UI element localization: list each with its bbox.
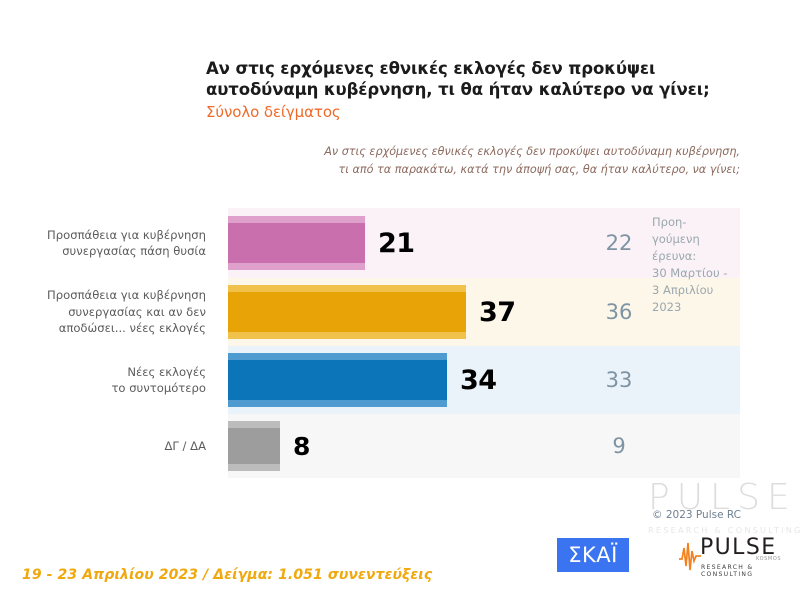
label-0-line-1: Προσπάθεια για κυβέρνηση <box>47 227 206 243</box>
bar-2-cap-top <box>228 353 447 360</box>
bar-0-core <box>228 223 365 263</box>
page-subtitle: Σύνολο δείγματος <box>206 103 726 121</box>
prev-value-2: 33 <box>589 370 649 391</box>
label-1-line-1: Προσπάθεια για κυβέρνηση <box>47 287 206 303</box>
label-2-line-1: Νέες εκλογές <box>111 364 206 380</box>
category-labels: Προσπάθεια για κυβέρνηση συνεργασίας πάσ… <box>14 208 214 478</box>
page-title: Αν στις ερχόμενες εθνικές εκλογές δεν πρ… <box>206 58 726 121</box>
date-sample-text: 19 - 23 Απριλίου 2023 / Δείγμα: 1.051 συ… <box>22 567 432 583</box>
date-bar: 19 - 23 Απριλίου 2023 / Δείγμα: 1.051 συ… <box>0 560 800 596</box>
category-label-0: Προσπάθεια για κυβέρνηση συνεργασίας πάσ… <box>14 208 214 278</box>
prev-value-3: 9 <box>589 436 649 457</box>
label-0-line-2: συνεργασίας πάση θυσία <box>47 243 206 259</box>
chart-row-2: 34 33 <box>228 346 740 414</box>
prev-value-1: 36 <box>589 302 649 323</box>
copyright-text: © 2023 Pulse RC <box>652 509 741 521</box>
bar-3-cap-top <box>228 421 280 428</box>
label-1-line-2: συνεργασίας και αν δεν <box>47 304 206 320</box>
bar-3-core <box>228 428 280 464</box>
bar-2-core <box>228 360 447 400</box>
bar-value-2: 34 <box>460 367 497 394</box>
label-2-line-2: το συντομότερο <box>111 380 206 396</box>
prevnote-line-4: 30 Μαρτίου - <box>652 265 744 282</box>
prevnote-line-2: γούμενη <box>652 231 744 248</box>
question-line-1: Αν στις ερχόμενες εθνικές εκλογές δεν πρ… <box>280 143 740 161</box>
bar-value-0: 21 <box>378 230 415 257</box>
category-label-3: ΔΓ / ΔΑ <box>14 414 214 478</box>
prevnote-line-5: 3 Απριλίου <box>652 282 744 299</box>
bar-1-cap-bottom <box>228 332 466 339</box>
prevnote-line-6: 2023 <box>652 299 744 316</box>
bar-2-cap-bottom <box>228 400 447 407</box>
bar-0 <box>228 216 365 270</box>
bar-chart: 21 22 37 36 34 33 <box>228 208 740 478</box>
bar-1 <box>228 285 466 339</box>
bar-value-1: 37 <box>479 299 516 326</box>
bar-value-3: 8 <box>293 434 310 459</box>
bar-0-cap-top <box>228 216 365 223</box>
watermark-sub: RESEARCH & CONSULTING <box>648 525 800 535</box>
bar-1-cap-top <box>228 285 466 292</box>
bar-2 <box>228 353 447 407</box>
prevnote-line-3: έρευνα: <box>652 248 744 265</box>
prevnote-line-1: Προη- <box>652 214 744 231</box>
label-3-line-1: ΔΓ / ΔΑ <box>164 438 206 454</box>
chart-row-3: 8 9 <box>228 414 740 478</box>
category-label-2: Νέες εκλογές το συντομότερο <box>14 346 214 414</box>
bar-1-core <box>228 292 466 332</box>
question-line-2: τι από τα παρακάτω, κατά την άποψή σας, … <box>280 161 740 179</box>
label-1-line-3: αποδώσει... νέες εκλογές <box>47 320 206 336</box>
bar-3 <box>228 421 280 471</box>
bar-0-cap-bottom <box>228 263 365 270</box>
title-line-1: Αν στις ερχόμενες εθνικές εκλογές δεν πρ… <box>206 58 726 79</box>
title-line-2: αυτοδύναμη κυβέρνηση, τι θα ήταν καλύτερ… <box>206 79 726 100</box>
previous-survey-note: Προη- γούμενη έρευνα: 30 Μαρτίου - 3 Απρ… <box>652 214 744 316</box>
category-label-1: Προσπάθεια για κυβέρνηση συνεργασίας και… <box>14 278 214 346</box>
question-text: Αν στις ερχόμενες εθνικές εκλογές δεν πρ… <box>280 143 740 179</box>
bar-3-cap-bottom <box>228 464 280 471</box>
poll-chart-page: Αν στις ερχόμενες εθνικές εκλογές δεν πρ… <box>0 0 800 596</box>
prev-value-0: 22 <box>589 233 649 254</box>
